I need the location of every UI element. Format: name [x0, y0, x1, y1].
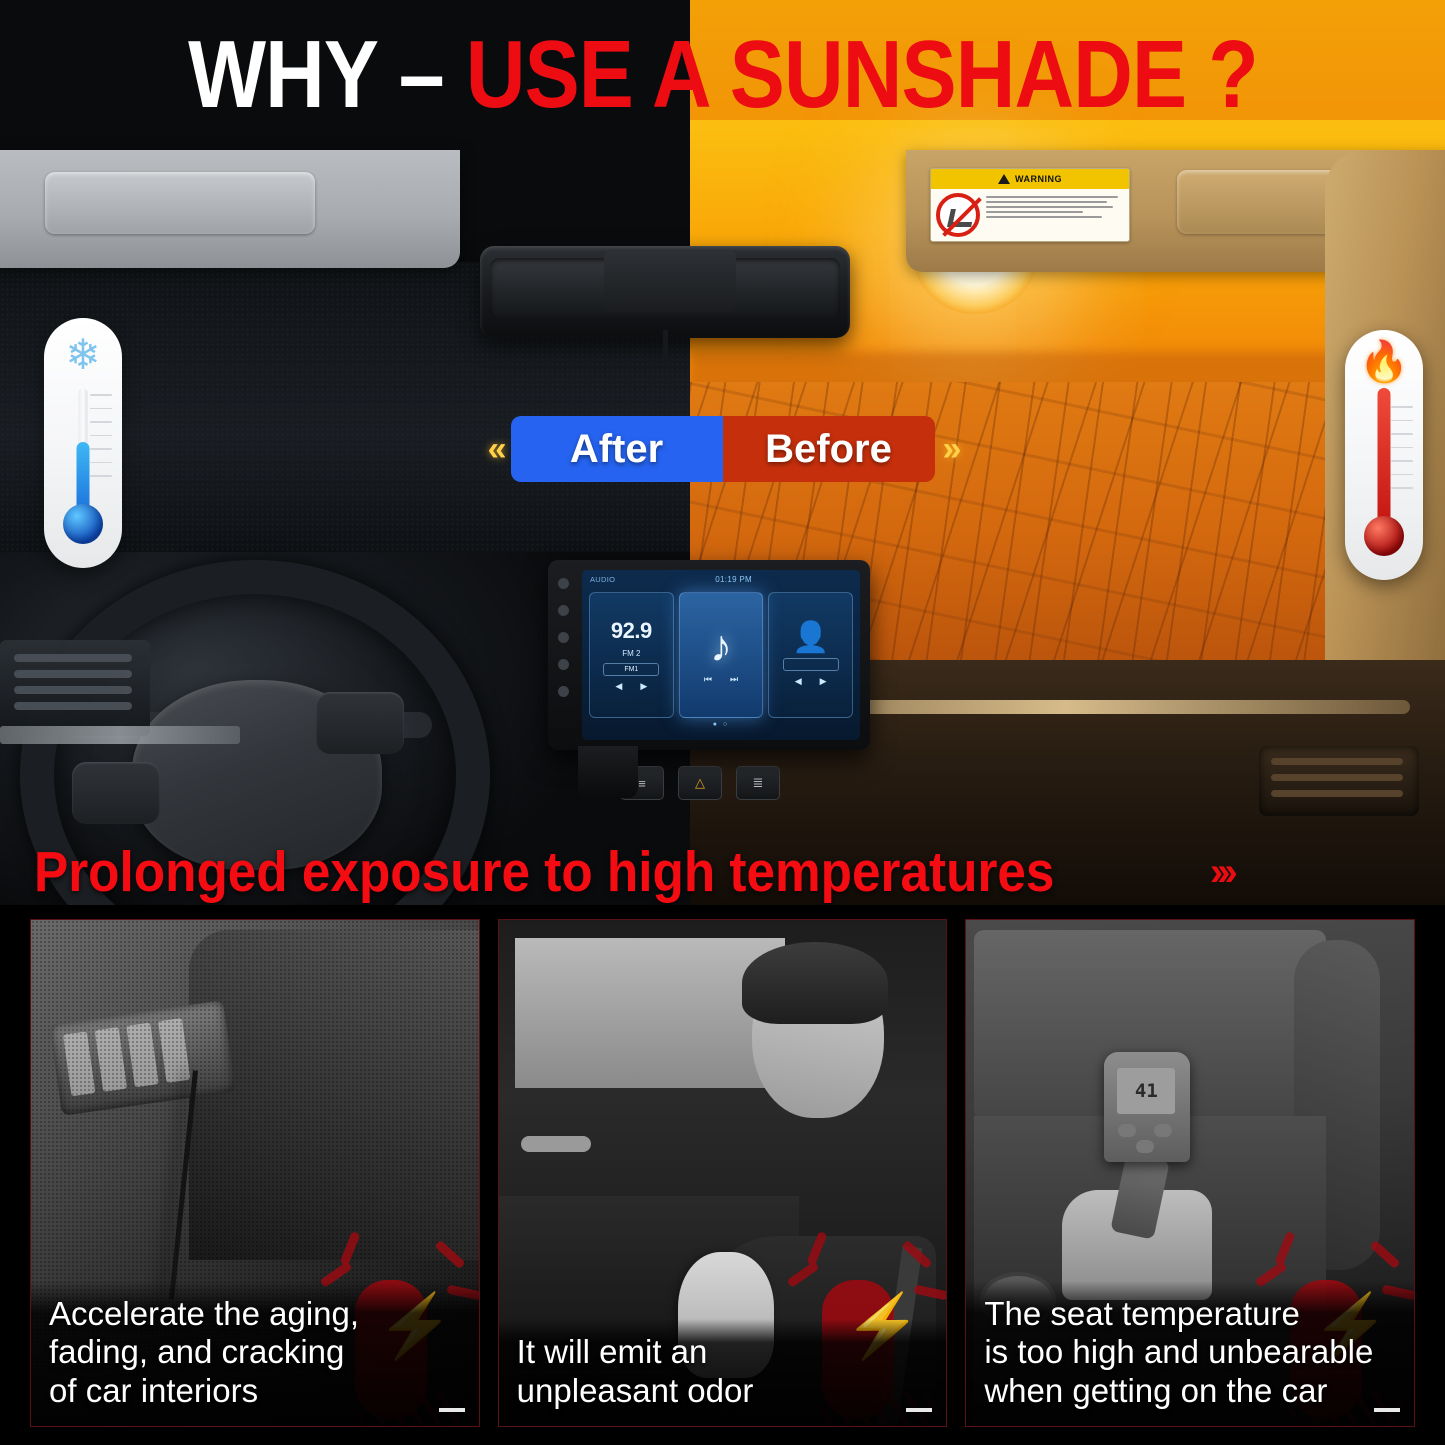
snowflake-icon: ❄ — [44, 334, 122, 376]
defrost-button[interactable]: ≣ — [736, 766, 780, 800]
media-tile[interactable]: ♪ ⏮ ⏭ — [679, 592, 764, 718]
card-caption: It will emit an unpleasant odor — [499, 1319, 947, 1426]
caption-line: unpleasant odor — [517, 1372, 931, 1410]
dashboard-vent-left — [0, 640, 150, 736]
radio-preset-chip[interactable]: FM1 — [603, 663, 659, 676]
radio-band: FM 2 — [622, 649, 640, 658]
caption-line: is too high and unbearable — [984, 1333, 1398, 1371]
steering-wheel-buttons-left — [72, 762, 160, 824]
head-unit-mount — [578, 746, 638, 798]
benefit-cards-row: ⚡ Accelerate the aging, fading, and crac… — [0, 905, 1445, 1445]
caption-line: It will emit an — [517, 1333, 931, 1371]
radio-next-icon[interactable]: ▶ — [640, 681, 647, 692]
radio-tile[interactable]: 92.9 FM 2 FM1 ◀ ▶ — [589, 592, 674, 718]
caption-line: of car interiors — [49, 1372, 463, 1410]
card-caption: The seat temperature is too high and unb… — [966, 1281, 1414, 1426]
visor-warning-label: WARNING — [930, 168, 1130, 242]
caption-underscore — [906, 1408, 932, 1412]
before-pill[interactable]: Before — [723, 416, 935, 482]
card-caption: Accelerate the aging, fading, and cracki… — [31, 1281, 479, 1426]
radio-frequency: 92.9 — [611, 618, 652, 644]
infotainment-side-buttons[interactable] — [558, 578, 569, 697]
flame-icon: 🔥 — [1345, 342, 1423, 382]
after-pill[interactable]: After — [511, 416, 723, 482]
infotainment-clock: 01:19 PM — [715, 575, 752, 584]
infotainment-screen[interactable]: AUDIO 01:19 PM 92.9 FM 2 FM1 ◀ ▶ — [582, 570, 860, 740]
caption-line: The seat temperature — [984, 1295, 1398, 1333]
infotainment-head-unit[interactable]: AUDIO 01:19 PM 92.9 FM 2 FM1 ◀ ▶ — [548, 560, 870, 750]
subheading-banner: Prolonged exposure to high temperatures … — [0, 826, 1445, 918]
rear-view-mirror — [480, 246, 850, 338]
phone-next-icon[interactable]: ▶ — [820, 676, 827, 687]
hero-comparison-section: WARNING — [0, 0, 1445, 905]
media-prev-icon[interactable]: ⏮ — [704, 674, 712, 685]
card-interior-aging[interactable]: ⚡ Accelerate the aging, fading, and crac… — [30, 919, 480, 1427]
steering-wheel-buttons-right — [316, 692, 404, 754]
caption-line: fading, and cracking — [49, 1333, 463, 1371]
infographic-root: WARNING — [0, 0, 1445, 1445]
caption-underscore — [439, 1408, 465, 1412]
caption-underscore — [1374, 1408, 1400, 1412]
subheading-text: Prolonged exposure to high temperatures — [34, 844, 1054, 901]
phone-prev-icon[interactable]: ◀ — [795, 676, 802, 687]
person-icon: 👤 — [792, 623, 829, 653]
chevron-right-icon: » — [935, 432, 966, 466]
no-child-seat-icon — [936, 193, 980, 237]
title-words-red: USE A SUNSHADE ? — [465, 21, 1257, 128]
card-seat-temperature[interactable]: 41 ⚡ The seat temperature is too high an… — [965, 919, 1415, 1427]
sun-visor-left — [0, 150, 460, 268]
hazard-button[interactable]: △ — [678, 766, 722, 800]
dashboard-trim-left — [0, 726, 240, 744]
phone-chip[interactable] — [783, 658, 839, 671]
before-after-toggle: « After Before » — [0, 412, 1445, 486]
card-unpleasant-odor[interactable]: ⚡ It will emit an unpleasant odor — [498, 919, 948, 1427]
warning-label-title: WARNING — [1015, 174, 1062, 184]
caption-line: when getting on the car — [984, 1372, 1398, 1410]
dashboard-vent-right — [1259, 746, 1419, 816]
title-word-why: WHY — [188, 21, 377, 128]
infrared-thermometer-gun: 41 — [1104, 1052, 1190, 1162]
chevron-left-icon: « — [480, 432, 511, 466]
page-indicator: ● ○ — [582, 721, 860, 728]
title-dash: – — [398, 21, 443, 128]
media-next-icon[interactable]: ⏭ — [730, 674, 738, 685]
page-title: WHY – USE A SUNSHADE ? — [0, 0, 1445, 150]
warning-triangle-icon — [998, 174, 1010, 184]
radio-prev-icon[interactable]: ◀ — [615, 681, 622, 692]
thermometer-reading: 41 — [1117, 1068, 1175, 1114]
caption-line: Accelerate the aging, — [49, 1295, 463, 1333]
chevrons-right-icon: ››› — [1210, 850, 1232, 895]
phone-tile[interactable]: 👤 ◀ ▶ — [768, 592, 853, 718]
infotainment-brand: AUDIO — [590, 575, 615, 584]
music-note-icon: ♪ — [710, 625, 732, 669]
